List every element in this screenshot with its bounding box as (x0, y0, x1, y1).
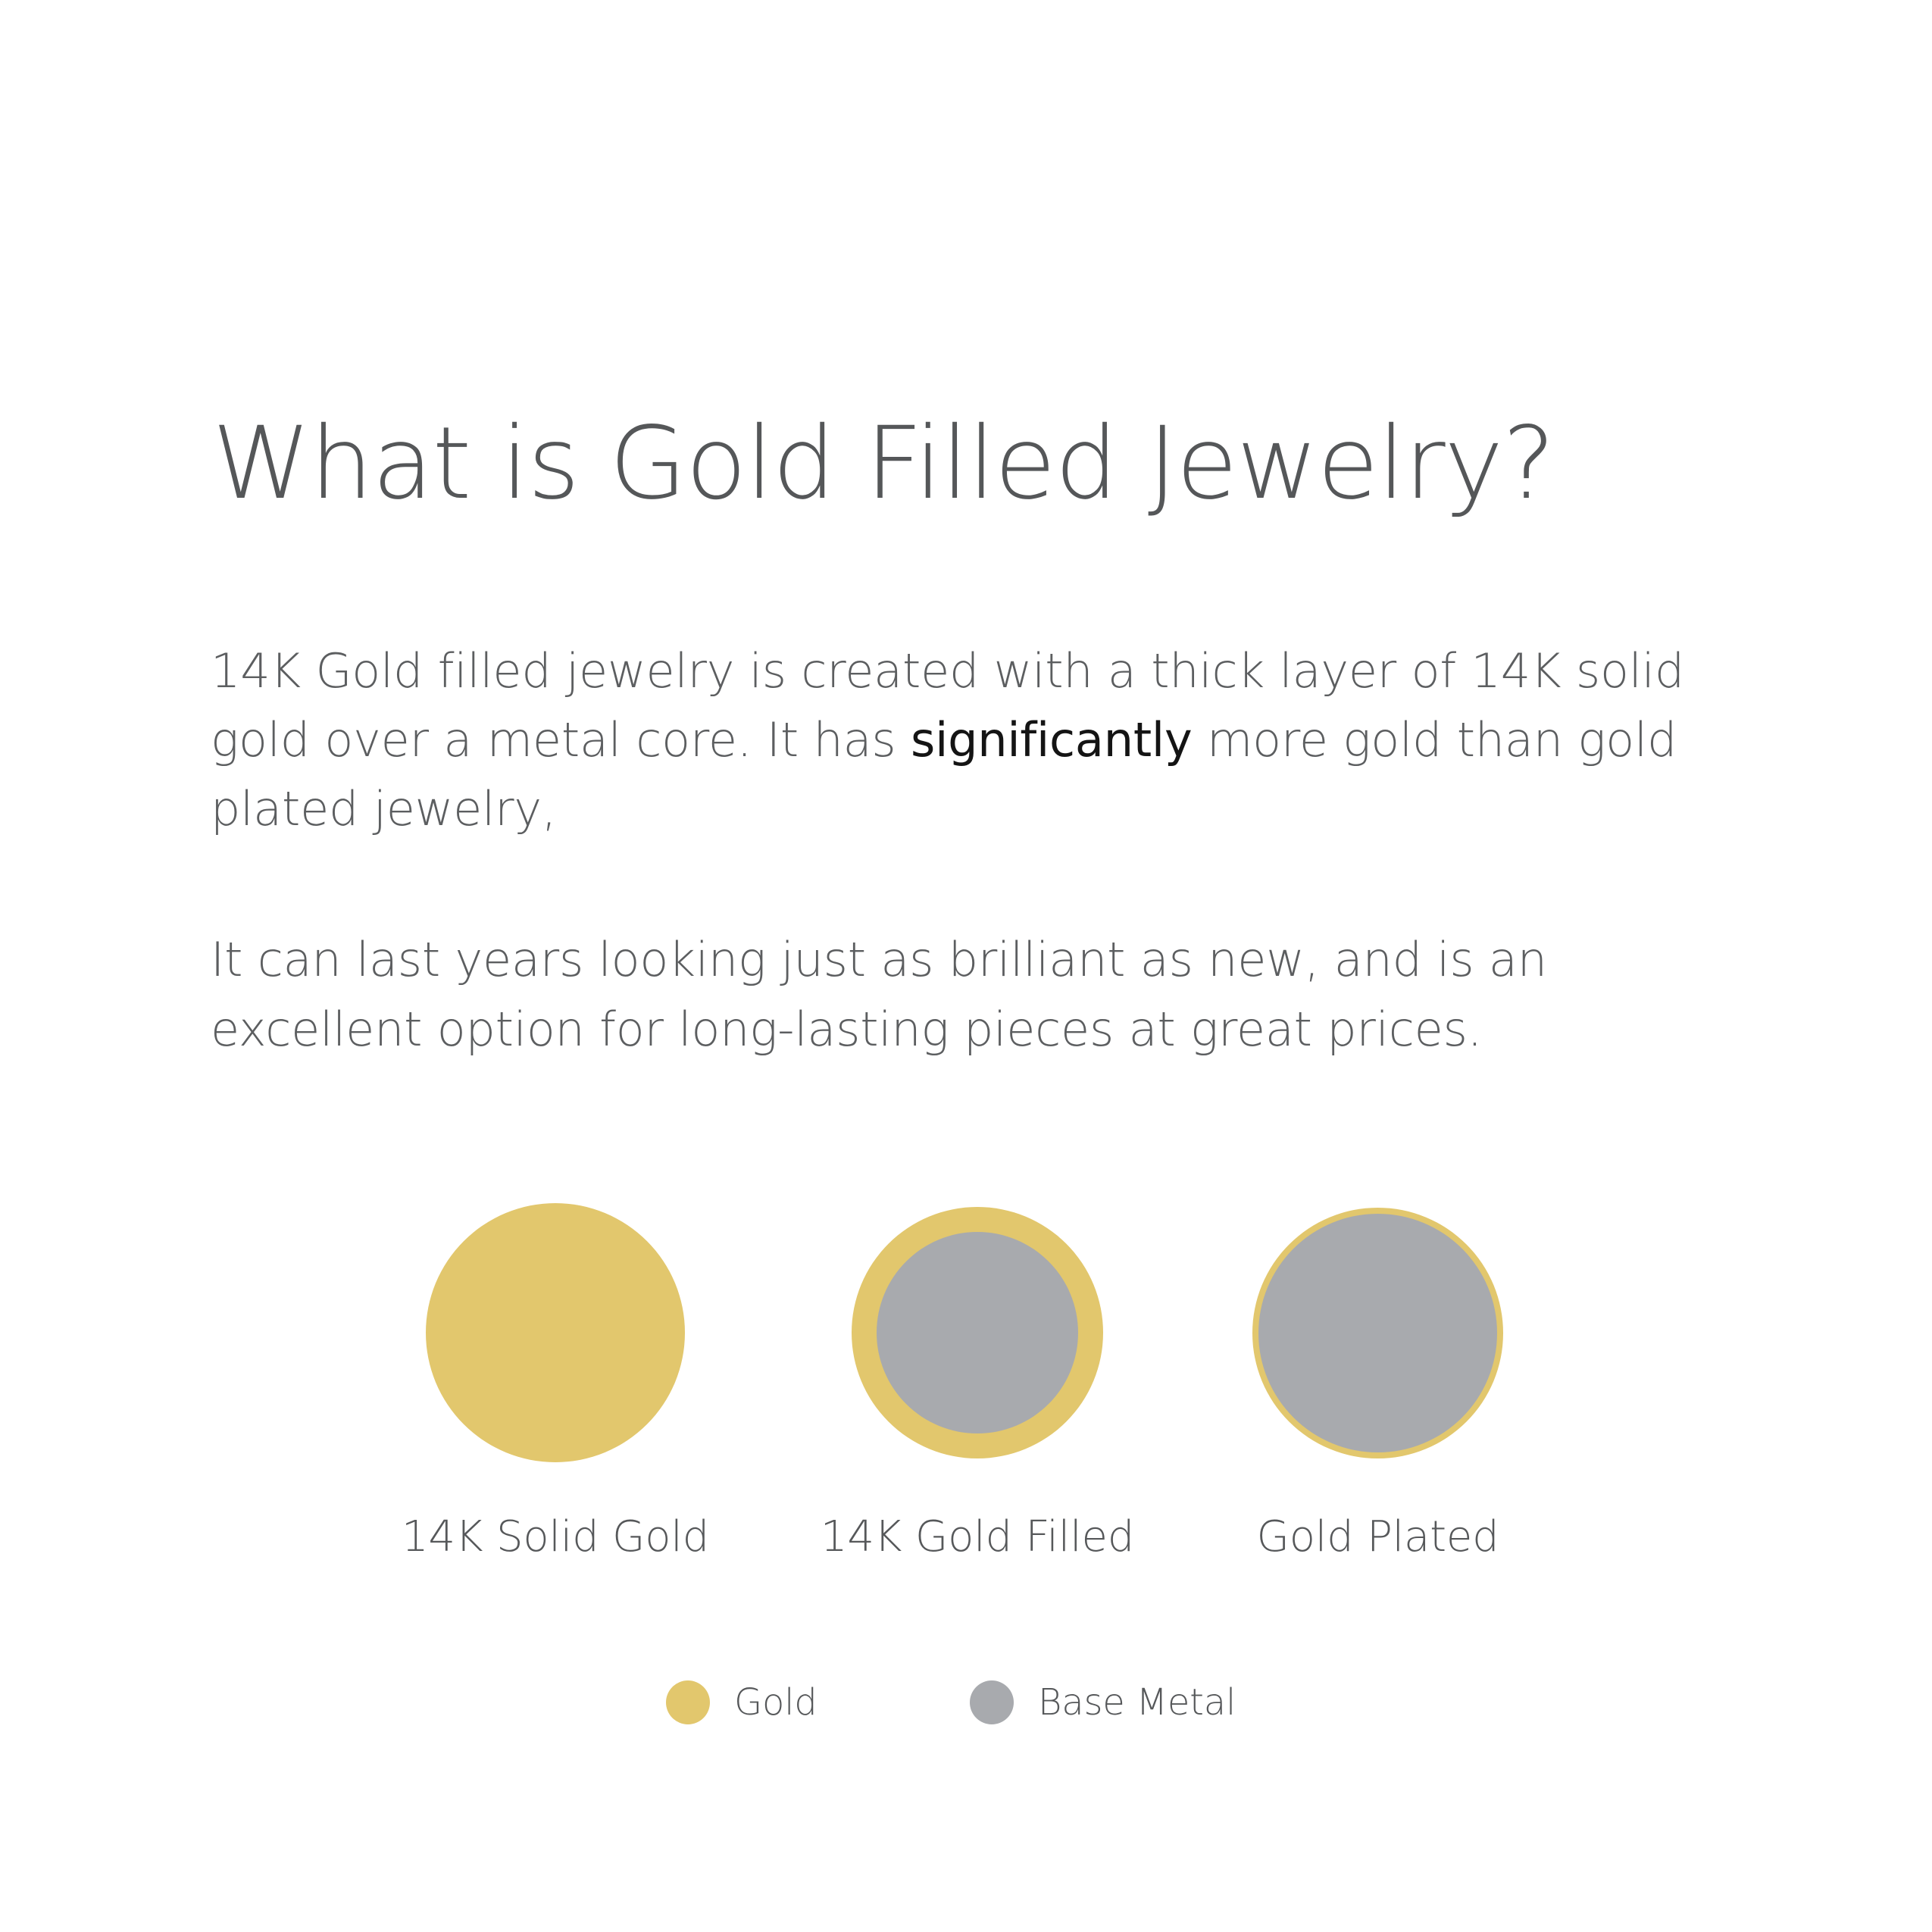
paragraph-2: It can last years looking just as brilli… (211, 925, 1771, 1063)
gold-filled-disc-icon (852, 1207, 1103, 1458)
gold-filled-core (877, 1232, 1078, 1433)
legend-label-base-metal: Base Metal (1038, 1681, 1236, 1724)
gold-plated-label: Gold Plated (1237, 1512, 1518, 1562)
gold-plated-core (1258, 1214, 1497, 1452)
solid-gold-disc-icon (426, 1203, 685, 1462)
gold-swatch-icon (666, 1680, 710, 1724)
diagram-legend: Gold Base Metal (0, 1680, 1932, 1749)
paragraph-1: 14K Gold filled jewelry is created with … (211, 636, 1771, 843)
infographic-page: What is Gold Filled Jewelry? 14K Gold fi… (0, 0, 1932, 1932)
gold-comparison-diagram: 14K Solid Gold 14K Gold Filled Gold Plat… (0, 1203, 1932, 1627)
base-metal-swatch-icon (970, 1680, 1014, 1724)
gold-plated-disc-icon (1252, 1208, 1503, 1458)
body-copy: 14K Gold filled jewelry is created with … (211, 636, 1771, 1064)
legend-item-gold: Gold (666, 1680, 818, 1724)
legend-label-gold: Gold (734, 1681, 818, 1724)
page-title: What is Gold Filled Jewelry? (212, 409, 1765, 519)
legend-item-base-metal: Base Metal (970, 1680, 1236, 1724)
gold-filled-label: 14K Gold Filled (815, 1512, 1140, 1562)
diagram-item-solid-gold: 14K Solid Gold (426, 1203, 685, 1462)
diagram-item-gold-filled: 14K Gold Filled (852, 1203, 1103, 1458)
diagram-item-gold-plated: Gold Plated (1252, 1203, 1503, 1458)
paragraph-1-emphasis: significantly (911, 712, 1192, 767)
solid-gold-label: 14K Solid Gold (395, 1512, 715, 1562)
